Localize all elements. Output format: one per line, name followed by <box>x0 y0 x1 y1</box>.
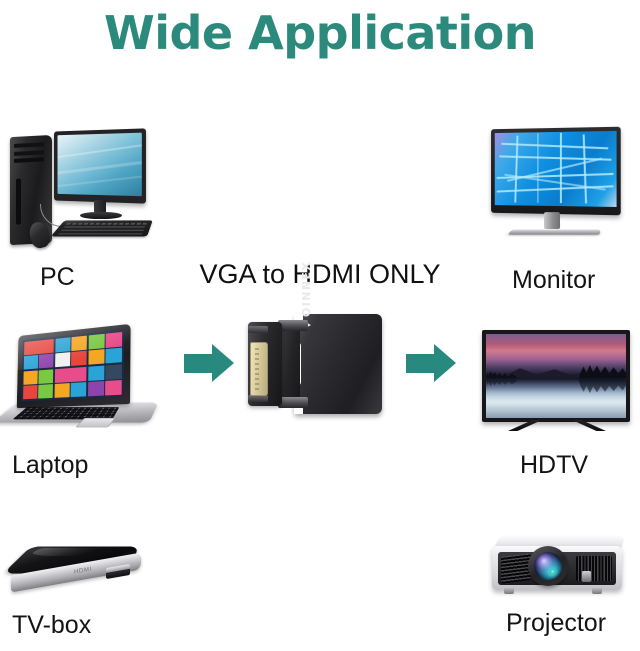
device-image-hdtv <box>482 330 632 448</box>
infographic-canvas: Wide Application PC Monitor <box>0 0 640 651</box>
device-image-tvbox: HDMI <box>8 536 158 606</box>
pc-monitor-icon <box>50 130 146 206</box>
adapter-vga-connector <box>248 322 282 406</box>
adapter-vga-dsub-face <box>250 342 268 396</box>
projector-foot-right <box>592 588 602 594</box>
arrow-right-icon-left <box>184 344 236 383</box>
projector-body <box>492 546 622 590</box>
device-label-projector: Projector <box>506 608 606 638</box>
device-image-monitor <box>488 128 628 250</box>
monitor-screen <box>495 131 617 207</box>
device-image-projector <box>488 532 636 608</box>
center-caption: VGA to HDMI ONLY <box>0 258 640 290</box>
laptop-lid <box>17 324 131 408</box>
device-image-laptop <box>6 330 166 442</box>
pc-monitor-base <box>80 212 122 219</box>
projector-lens <box>534 552 562 580</box>
projector-control-button <box>582 571 591 582</box>
projector-vent-left <box>501 553 531 584</box>
device-image-pc <box>8 130 168 250</box>
projector-foot-left <box>504 588 514 594</box>
laptop-screen <box>21 330 124 402</box>
page-title: Wide Application <box>0 4 640 62</box>
monitor-base <box>507 229 600 234</box>
hdtv-screen <box>486 334 626 418</box>
projector-lens-ring <box>528 546 568 586</box>
adapter-clip-bottom <box>278 397 308 408</box>
monitor-neck <box>544 212 560 229</box>
laptop-trackpad <box>75 418 115 428</box>
arrow-right-icon-right <box>406 344 458 383</box>
product-image-vga-to-hdmi-adapter: OINNEX <box>232 312 386 416</box>
adapter-screw-bottom <box>248 395 268 402</box>
pc-monitor-frame <box>54 128 146 203</box>
device-label-laptop: Laptop <box>12 450 88 480</box>
device-label-hdtv: HDTV <box>520 450 588 480</box>
brand-name-text: OINNEX <box>300 261 313 317</box>
keyboard-icon <box>51 220 153 236</box>
adapter-clip-top <box>278 320 308 331</box>
device-label-tvbox: TV-box <box>12 610 91 640</box>
adapter-screw-top <box>248 326 268 333</box>
hdtv-frame <box>482 330 630 422</box>
monitor-frame <box>491 127 621 216</box>
pc-monitor-screen <box>58 133 142 197</box>
